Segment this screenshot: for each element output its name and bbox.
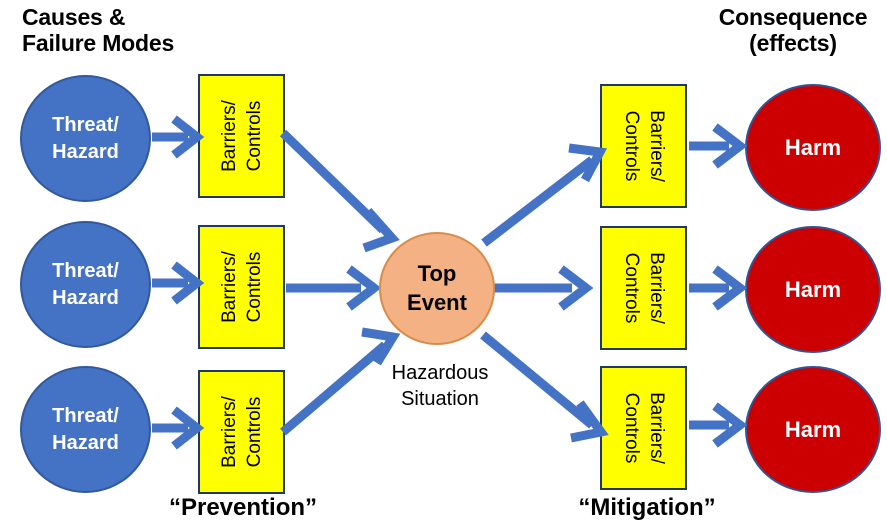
arrow-threat3-to-barrier3 [152,410,197,446]
heading-consequence-effects: Consequence (effects) [700,4,886,57]
prevention-barrier-box-1[interactable]: Barriers/ Controls [198,74,285,198]
prevention-barrier-box-3[interactable]: Barriers/ Controls [198,370,285,494]
top-event-circle[interactable]: Top Event [379,232,495,345]
phase-label-prevention: “Prevention” [148,494,338,522]
threat-circle-2[interactable]: Threat/ Hazard [20,221,151,348]
threat-circle-3[interactable]: Threat/ Hazard [20,366,151,493]
arrow-barrier2-to-top-event [286,269,374,307]
mitigation-barrier-label-1: Barriers/ Controls [618,86,668,206]
top-event-caption: Hazardous Situation [370,360,510,412]
arrow-barrier5-to-harm2 [689,269,740,307]
prevention-barrier-label-3: Barriers/ Controls [216,372,266,492]
phase-label-mitigation: “Mitigation” [552,494,742,522]
harm-circle-3[interactable]: Harm [745,366,881,493]
harm-circle-1[interactable]: Harm [745,84,881,211]
mitigation-barrier-box-1[interactable]: Barriers/ Controls [600,84,687,208]
arrow-top-event-to-barrier4 [484,148,600,243]
arrow-barrier6-to-harm3 [689,406,740,444]
arrow-threat2-to-barrier2 [152,265,197,301]
mitigation-barrier-label-3: Barriers/ Controls [618,368,668,488]
arrow-top-event-to-barrier5 [494,269,586,307]
arrow-barrier1-to-top-event [283,133,392,248]
harm-circle-2[interactable]: Harm [745,226,881,353]
mitigation-barrier-box-2[interactable]: Barriers/ Controls [600,226,687,350]
mitigation-barrier-label-2: Barriers/ Controls [618,228,668,348]
prevention-barrier-label-2: Barriers/ Controls [216,227,266,347]
arrow-barrier4-to-harm1 [689,127,740,165]
threat-circle-1[interactable]: Threat/ Hazard [20,75,151,202]
heading-causes-failure-modes: Causes & Failure Modes [22,4,174,57]
prevention-barrier-label-1: Barriers/ Controls [216,76,266,196]
prevention-barrier-box-2[interactable]: Barriers/ Controls [198,225,285,349]
arrow-threat1-to-barrier1 [152,119,197,155]
mitigation-barrier-box-3[interactable]: Barriers/ Controls [600,366,687,490]
bowtie-diagram-canvas: Causes & Failure Modes Consequence (effe… [0,0,887,532]
